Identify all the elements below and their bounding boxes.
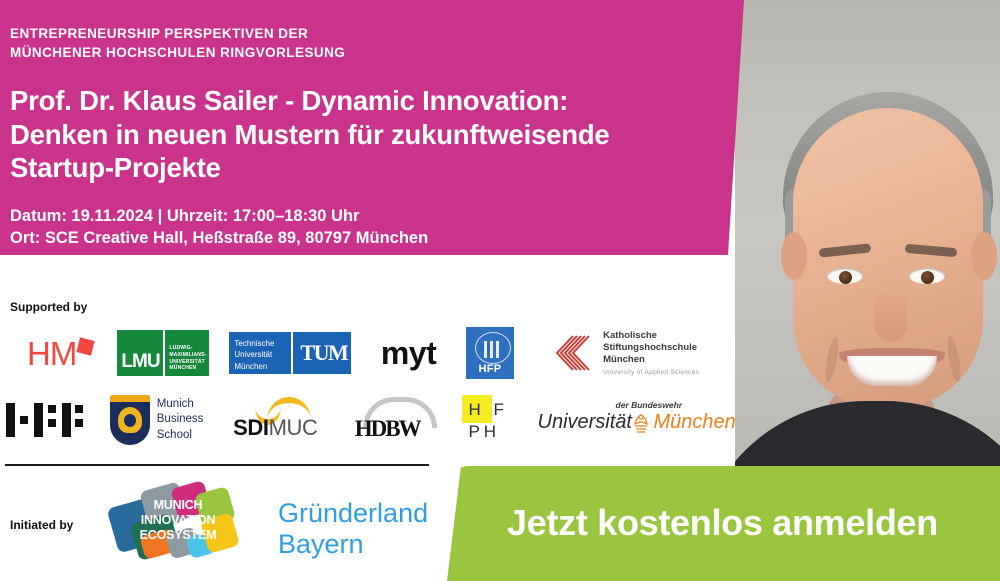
logo-hfp-bar-3-icon [496, 341, 499, 358]
logo-hm-square-icon [77, 337, 95, 355]
logo-hff-dot-4-icon [75, 405, 83, 413]
logo-hff-dot-1-icon [20, 416, 28, 424]
logo-hm: HM [4, 330, 99, 376]
portrait-nose [875, 288, 907, 342]
logo-lmu: LMU LUDWIG- MAXIMILIANS- UNIVERSITÄT MÜN… [117, 330, 209, 376]
logo-gruenderland-bayern: Gründerland Bayern [278, 498, 428, 560]
logo-mbs-shield-icon [110, 395, 150, 445]
logo-hff-dot-3-icon [48, 419, 56, 427]
event-location: Ort: SCE Creative Hall, Heßstraße 89, 80… [10, 228, 744, 250]
supporter-logo-row-2: Munich Business School SDIMUC HDBW H F P… [4, 392, 714, 448]
logo-mbs-line-1: Munich [157, 397, 204, 412]
logo-tum: Technische Universität München TUM [229, 332, 351, 374]
logo-hfp-text: HFP [466, 363, 515, 375]
logo-sdi-text: SDIMUC [233, 415, 317, 441]
logo-ksh-tagline: University of Applied Sciences [603, 369, 699, 376]
series-kicker-line-2: MÜNCHENER HOCHSCHULEN RINGVORLESUNG [10, 43, 744, 62]
logo-tum-wordmark: Technische Universität München [229, 332, 291, 374]
logo-mbs-line-2: Business [157, 412, 204, 427]
initiated-by-label: Initiated by [10, 518, 73, 532]
supported-by-label: Supported by [10, 300, 87, 314]
logo-tum-mark: TUM [293, 332, 351, 374]
register-cta-text[interactable]: Jetzt kostenlos anmelden [507, 502, 938, 544]
logo-hfph: H F PH [462, 395, 525, 445]
logo-ksh-line-2: Stiftungshochschule [603, 342, 699, 354]
logo-hfph-line-2: PH [468, 423, 500, 440]
logo-hff [4, 403, 76, 437]
series-kicker-line-1: ENTREPRENEURSHIP PERSPEKTIVEN DER [10, 24, 744, 43]
logo-munich-innovation-ecosystem: MUNICH INNOVATION ECOSYSTEM [112, 484, 240, 556]
event-details: Datum: 19.11.2024 | Uhrzeit: 17:00–18:30… [10, 206, 744, 250]
register-cta-banner[interactable]: Jetzt kostenlos anmelden [447, 466, 1000, 581]
logo-ksh-text-block: Katholische Stiftungshochschule München … [603, 330, 699, 376]
logo-hff-dot-5-icon [75, 419, 83, 427]
portrait-pupil-left [839, 271, 852, 284]
mie-line-2: INNOVATION [118, 513, 238, 528]
logo-sdi-muc: SDIMUC [233, 397, 345, 443]
logo-ksh: Katholische Stiftungshochschule München … [536, 326, 714, 380]
portrait-ear-left [781, 232, 807, 280]
logo-hfph-line-1: H F [468, 401, 507, 418]
logo-hm-text: HM [27, 337, 76, 370]
logo-hfp-bar-1-icon [484, 341, 487, 358]
portrait-ear-right [971, 232, 997, 280]
logo-unibw-text-1: Universität [538, 411, 632, 434]
gruenderland-line-1: Gründerland [278, 498, 428, 529]
logo-lmu-text: LMU [121, 351, 159, 373]
logo-unibw-text-2: München [654, 411, 736, 434]
logo-hff-bar-1-icon [6, 403, 15, 437]
logo-hfp-bar-2-icon [490, 341, 493, 358]
logo-hff-bar-2-icon [34, 403, 43, 437]
series-kicker: ENTREPRENEURSHIP PERSPEKTIVEN DER MÜNCHE… [10, 24, 744, 62]
mie-line-1: MUNICH [118, 498, 238, 513]
logo-universitaet-der-bundeswehr: der Bundeswehr Universität München [538, 400, 715, 440]
section-divider [5, 464, 429, 466]
event-headline-line-1: Prof. Dr. Klaus Sailer - Dynamic Innovat… [10, 84, 744, 117]
logo-unibw-small-text: der Bundeswehr [616, 400, 683, 410]
event-headline-line-2: Denken in neuen Mustern für zukunftweise… [10, 118, 744, 151]
gruenderland-line-2: Bayern [278, 529, 428, 560]
logo-mbs-lion-icon [118, 407, 142, 433]
mie-line-3: ECOSYSTEM [118, 528, 238, 543]
logo-tum-subtext: Technische Universität München [234, 338, 274, 372]
logo-hfp-circle-icon [475, 332, 511, 364]
logo-mbs-line-3: School [157, 428, 204, 443]
logo-myt: myt [367, 331, 449, 375]
logo-sdi-text-suffix: MUC [269, 415, 318, 440]
logo-lmu-subtext: LUDWIG- MAXIMILIANS- UNIVERSITÄT MÜNCHEN [169, 345, 206, 372]
event-date-time: Datum: 19.11.2024 | Uhrzeit: 17:00–18:30… [10, 206, 744, 228]
logo-hdbw: HDBW [355, 396, 449, 444]
logo-mbs-text-block: Munich Business School [157, 397, 204, 443]
event-headline-line-3: Startup-Projekte [10, 151, 744, 184]
event-headline: Prof. Dr. Klaus Sailer - Dynamic Innovat… [10, 84, 744, 184]
logo-lmu-mark: LMU [117, 330, 163, 376]
logo-lmu-wordmark: LUDWIG- MAXIMILIANS- UNIVERSITÄT MÜNCHEN [165, 330, 209, 376]
event-poster: ENTREPRENEURSHIP PERSPEKTIVEN DER MÜNCHE… [0, 0, 1000, 581]
logo-unibw-eagle-icon [630, 412, 652, 436]
logo-hdbw-text: HDBW [355, 416, 420, 442]
logo-ksh-line-1: Katholische [603, 330, 699, 342]
logo-hff-bar-3-icon [62, 403, 71, 437]
portrait-pupil-right [921, 271, 934, 284]
mie-wordmark: MUNICH INNOVATION ECOSYSTEM [118, 498, 238, 542]
logo-hff-dot-2-icon [48, 405, 56, 413]
logo-myt-text: myt [381, 335, 436, 372]
logo-ksh-mark-icon [551, 332, 595, 374]
logo-ksh-line-3: München [603, 354, 699, 366]
logo-munich-business-school: Munich Business School [98, 394, 215, 446]
logo-tum-text: TUM [300, 340, 347, 366]
supporter-logo-row-1: HM LMU LUDWIG- MAXIMILIANS- UNIVERSITÄT … [4, 324, 714, 382]
logo-hfp: HFP [466, 327, 515, 379]
logo-sdi-text-main: SDI [233, 415, 268, 440]
header-banner: ENTREPRENEURSHIP PERSPEKTIVEN DER MÜNCHE… [0, 0, 744, 255]
